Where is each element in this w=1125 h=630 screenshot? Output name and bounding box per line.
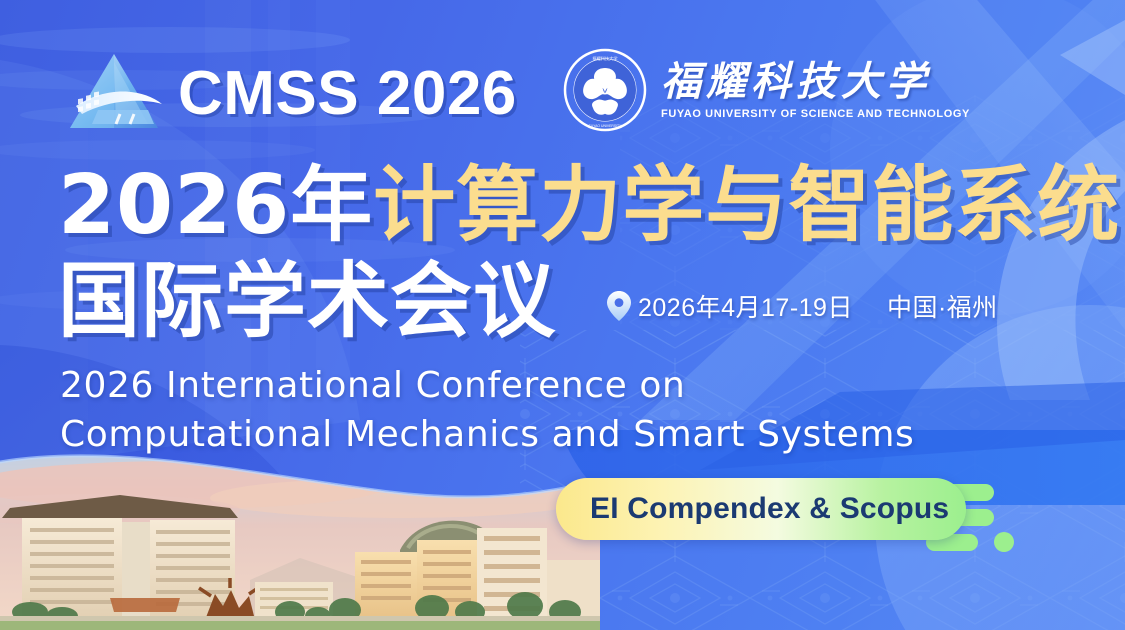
campus-illustration — [0, 440, 600, 630]
university-name-cn: 福耀科技大学 — [661, 61, 970, 103]
event-meta: 2026年4月17-19日 中国·福州 — [607, 288, 998, 324]
university-name-block: 福耀科技大学 FUYAO UNIVERSITY OF SCIENCE AND T… — [661, 61, 970, 120]
location-pin-icon — [607, 291, 631, 321]
brand-header: CMSS 2026 — [62, 48, 517, 140]
title-en-line2: Computational Mechanics and Smart System… — [60, 410, 914, 459]
seal-ring-text-en: FUYAO UNIVERSITY — [589, 124, 622, 128]
index-badge: EI Compendex & Scopus — [556, 478, 1026, 560]
university-logo: 福耀科技大学 FUYAO UNIVERSITY 福耀科技大学 FUYAO UNI… — [563, 48, 970, 132]
campus-photo — [0, 440, 600, 630]
title-en-line1: 2026 International Conference on — [60, 361, 914, 410]
title-cn-topic: 计算力学与智能系统 — [373, 158, 1120, 253]
university-seal-icon: 福耀科技大学 FUYAO UNIVERSITY — [563, 48, 647, 132]
title-cn-year: 2026年 — [58, 158, 373, 253]
university-name-en: FUYAO UNIVERSITY OF SCIENCE AND TECHNOLO… — [661, 108, 970, 120]
index-badge-label: EI Compendex & Scopus — [590, 492, 949, 526]
event-date: 2026年4月17-19日 — [638, 288, 853, 324]
triangle-swoosh-logo — [62, 48, 170, 140]
event-code: CMSS 2026 — [178, 63, 517, 125]
event-place: 中国·福州 — [887, 288, 998, 324]
seal-ring-text-cn: 福耀科技大学 — [592, 55, 617, 62]
conference-title-en: 2026 International Conference on Computa… — [60, 361, 914, 459]
index-badge-pill: EI Compendex & Scopus — [556, 478, 966, 540]
conference-banner: CMSS 2026 福耀科技大学 FUYAO UNIVERSI — [0, 0, 1125, 630]
